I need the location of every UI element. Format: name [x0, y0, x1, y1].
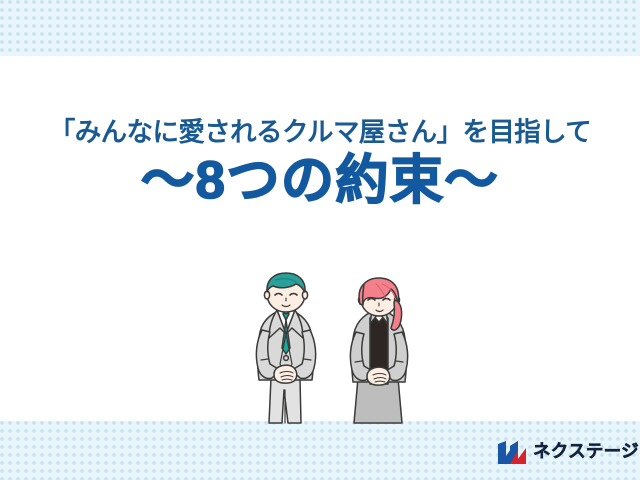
promotional-banner: 「みんなに愛されるクルマ屋さん」を目指して 〜8つの約束〜 [0, 0, 640, 480]
male-staff-figure [256, 273, 315, 423]
brand-logo: ネクステージ [497, 437, 639, 467]
female-staff-figure [350, 278, 407, 423]
headline-block: 「みんなに愛されるクルマ屋さん」を目指して 〜8つの約束〜 [0, 118, 640, 208]
page-title: 「みんなに愛されるクルマ屋さん」を目指して [0, 118, 640, 147]
staff-illustration [236, 272, 426, 424]
bowing-staff-graphic [236, 272, 426, 424]
nextage-n-mark-icon [497, 440, 527, 465]
brand-name: ネクステージ [533, 443, 639, 461]
page-subtitle: 〜8つの約束〜 [0, 153, 640, 209]
top-dot-pattern-band [0, 0, 640, 56]
